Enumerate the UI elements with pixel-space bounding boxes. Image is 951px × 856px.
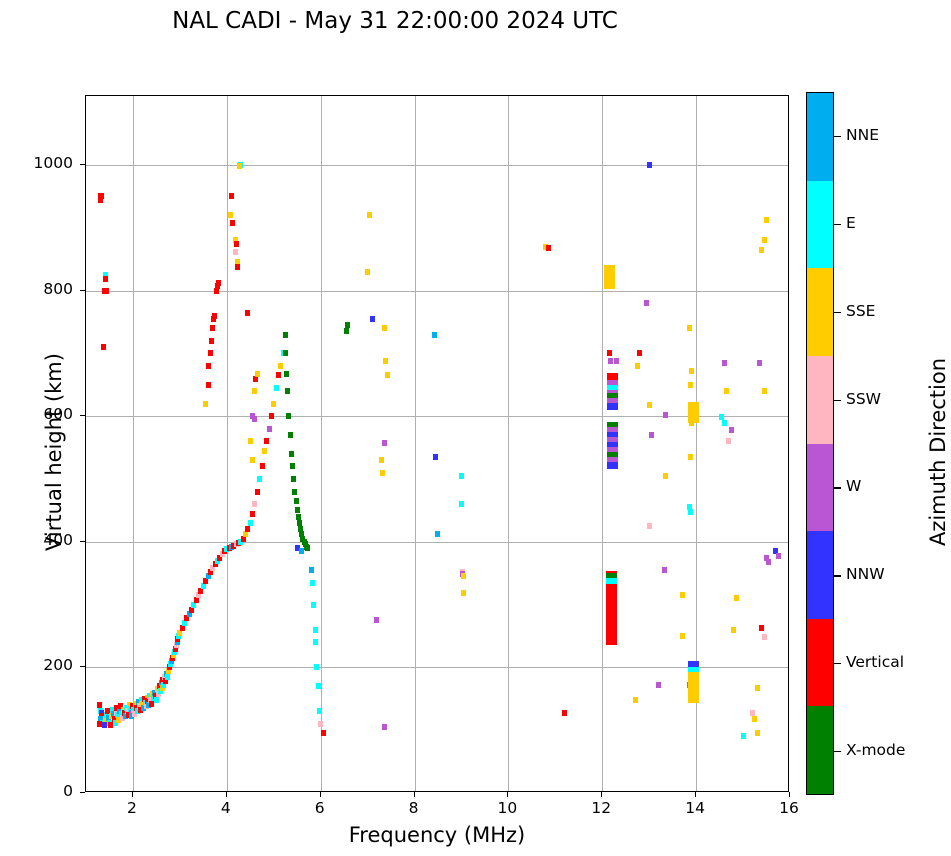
y-tick-label: 1000 [13, 154, 73, 172]
y-tick [80, 541, 85, 542]
echo-point [606, 600, 617, 606]
echo-point [299, 548, 304, 554]
echo-point [154, 697, 159, 703]
echo-point [250, 511, 255, 517]
echo-point [606, 611, 617, 617]
y-tick [80, 164, 85, 165]
echo-point [731, 627, 736, 633]
echo-point [647, 402, 652, 408]
echo-point [310, 580, 315, 586]
y-tick [80, 290, 85, 291]
echo-point [289, 451, 294, 457]
scatter-points-layer [86, 96, 788, 791]
echo-point [313, 639, 318, 645]
colorbar-tick [834, 751, 841, 752]
echo-point [606, 639, 617, 645]
echo-point [165, 674, 170, 680]
echo-point [722, 420, 727, 426]
echo-point [562, 710, 567, 716]
echo-point [432, 332, 437, 338]
echo-point [726, 438, 731, 444]
colorbar-tick [834, 487, 841, 488]
echo-point [750, 710, 755, 716]
echo-point [644, 300, 649, 306]
x-tick-label: 2 [102, 799, 162, 817]
echo-point [606, 628, 617, 634]
echo-point [98, 197, 103, 203]
echo-point [647, 523, 652, 529]
echo-point [252, 501, 257, 507]
echo-point [606, 634, 617, 640]
colorbar-label-w: W [846, 477, 861, 495]
x-tick [507, 792, 508, 797]
colorbar-tick [834, 400, 841, 401]
echo-point [257, 476, 262, 482]
echo-point [647, 162, 652, 168]
echo-point [276, 372, 281, 378]
colorbar-label-ssw: SSW [846, 390, 881, 408]
echo-point [278, 363, 283, 369]
echo-point [245, 310, 250, 316]
echo-point [297, 520, 302, 526]
figure-title: NAL CADI - May 31 22:00:00 2024 UTC [0, 8, 790, 34]
echo-point [608, 358, 613, 364]
colorbar-segment-sse[interactable] [807, 268, 833, 356]
colorbar-segment-nnw[interactable] [807, 531, 833, 619]
echo-point [283, 350, 288, 356]
echo-point [264, 438, 269, 444]
echo-point [309, 567, 314, 573]
echo-point [267, 426, 272, 432]
echo-point [607, 373, 618, 380]
colorbar-tick [834, 136, 841, 137]
echo-point [245, 526, 250, 532]
echo-point [755, 685, 760, 691]
echo-point [370, 316, 375, 322]
echo-point [97, 702, 102, 708]
echo-point [374, 617, 379, 623]
echo-point [382, 325, 387, 331]
y-tick [80, 666, 85, 667]
echo-point [680, 633, 685, 639]
echo-point [607, 403, 618, 410]
echo-point [762, 634, 767, 640]
echo-point [255, 489, 260, 495]
echo-point [237, 163, 242, 169]
echo-point [776, 553, 781, 559]
echo-point [722, 360, 727, 366]
x-tick [601, 792, 602, 797]
echo-point [762, 388, 767, 394]
echo-point [288, 432, 293, 438]
echo-point [206, 382, 211, 388]
echo-point [435, 531, 440, 537]
colorbar-label-x-mode: X-mode [846, 741, 905, 759]
echo-point [637, 350, 642, 356]
echo-point [606, 617, 617, 623]
echo-point [741, 733, 746, 739]
echo-point [209, 338, 214, 344]
colorbar-label-sse: SSE [846, 302, 875, 320]
echo-point [311, 602, 316, 608]
x-tick [320, 792, 321, 797]
echo-point [729, 427, 734, 433]
echo-point [285, 388, 290, 394]
echo-point [459, 501, 464, 507]
echo-point [680, 592, 685, 598]
echo-point [724, 388, 729, 394]
echo-point [633, 697, 638, 703]
echo-point [313, 627, 318, 633]
x-tick [789, 792, 790, 797]
echo-point [385, 372, 390, 378]
colorbar-segment-w[interactable] [807, 444, 833, 532]
echo-point [461, 590, 466, 596]
echo-point [296, 514, 301, 520]
echo-point [235, 264, 240, 270]
echo-point [248, 438, 253, 444]
echo-point [262, 448, 267, 454]
echo-point [317, 708, 322, 714]
echo-point [757, 360, 762, 366]
colorbar-tick [834, 575, 841, 576]
echo-point [250, 457, 255, 463]
colorbar[interactable] [806, 92, 834, 795]
echo-point [316, 683, 321, 689]
echo-point [216, 280, 221, 286]
echo-point [752, 716, 757, 722]
echo-point [635, 363, 640, 369]
x-tick-label: 10 [477, 799, 537, 817]
echo-point [101, 344, 106, 350]
figure-root: NAL CADI - May 31 22:00:00 2024 UTC 2468… [0, 0, 951, 856]
echo-point [382, 440, 387, 446]
echo-point [252, 416, 257, 422]
echo-point [210, 325, 215, 331]
echo-point [284, 371, 289, 377]
echo-point [212, 313, 217, 319]
colorbar-segment-x-mode[interactable] [807, 706, 833, 794]
echo-point [606, 622, 617, 628]
echo-point [461, 573, 466, 579]
echo-point [229, 193, 234, 199]
echo-point [321, 730, 326, 736]
echo-point [759, 247, 764, 253]
x-tick-label: 6 [290, 799, 350, 817]
echo-point [433, 454, 438, 460]
echo-point [380, 470, 385, 476]
colorbar-tick [834, 312, 841, 313]
echo-point [271, 401, 276, 407]
x-tick [414, 792, 415, 797]
echo-point [291, 476, 296, 482]
echo-point [345, 322, 350, 328]
echo-point [662, 567, 667, 573]
echo-point [365, 269, 370, 275]
plot-axes[interactable] [85, 95, 789, 792]
colorbar-tick [834, 224, 841, 225]
echo-point [606, 605, 617, 611]
echo-point [292, 489, 297, 495]
echo-point [104, 288, 109, 294]
echo-point [295, 507, 300, 513]
x-axis-label: Frequency (MHz) [85, 823, 789, 847]
echo-point [607, 462, 618, 469]
echo-point [286, 413, 291, 419]
echo-point [764, 217, 769, 223]
colorbar-segment-vertical[interactable] [807, 619, 833, 707]
colorbar-segment-nne[interactable] [807, 93, 833, 181]
echo-point [103, 276, 108, 282]
echo-point [382, 724, 387, 730]
echo-point [688, 509, 693, 515]
echo-point [305, 545, 310, 551]
echo-point [614, 358, 619, 364]
echo-point [606, 594, 617, 600]
echo-point [459, 473, 464, 479]
y-tick [80, 792, 85, 793]
echo-point [688, 402, 699, 410]
echo-point [755, 730, 760, 736]
echo-point [688, 454, 693, 460]
echo-point [97, 721, 102, 727]
echo-point [248, 520, 253, 526]
echo-point [208, 350, 213, 356]
echo-point [230, 220, 235, 226]
x-tick [695, 792, 696, 797]
x-tick-label: 4 [196, 799, 256, 817]
echo-point [759, 625, 764, 631]
colorbar-label-vertical: Vertical [846, 653, 904, 671]
colorbar-segment-e[interactable] [807, 181, 833, 269]
echo-point [762, 237, 767, 243]
colorbar-tick [834, 663, 841, 664]
echo-point [252, 388, 257, 394]
y-tick-label: 200 [13, 656, 73, 674]
echo-point [234, 241, 239, 247]
colorbar-label-nne: NNE [846, 126, 879, 144]
echo-point [606, 578, 617, 584]
echo-point [269, 413, 274, 419]
echo-point [663, 412, 668, 418]
colorbar-segment-ssw[interactable] [807, 356, 833, 444]
echo-point [688, 382, 693, 388]
echo-point [688, 667, 699, 672]
echo-point [314, 664, 319, 670]
echo-point [274, 385, 279, 391]
echo-point [290, 463, 295, 469]
echo-point [379, 457, 384, 463]
echo-point [607, 350, 612, 356]
echo-point [604, 265, 615, 274]
echo-point [283, 332, 288, 338]
echo-point [734, 595, 739, 601]
x-tick [132, 792, 133, 797]
echo-point [766, 559, 771, 565]
echo-point [206, 363, 211, 369]
echo-point [606, 588, 617, 594]
y-axis-label: Virtual height (km) [42, 282, 66, 622]
x-tick-label: 16 [759, 799, 819, 817]
colorbar-label-e: E [846, 214, 856, 232]
echo-point [255, 371, 260, 377]
echo-point [233, 249, 238, 255]
echo-point [689, 368, 694, 374]
colorbar-label-nnw: NNW [846, 565, 885, 583]
echo-point [546, 245, 551, 251]
echo-point [383, 358, 388, 364]
echo-point [656, 682, 661, 688]
y-tick-label: 0 [13, 782, 73, 800]
x-tick-label: 8 [384, 799, 444, 817]
echo-point [228, 212, 233, 218]
echo-point [318, 721, 323, 727]
y-tick [80, 415, 85, 416]
echo-point [687, 325, 692, 331]
echo-point [649, 432, 654, 438]
echo-point [663, 473, 668, 479]
echo-point [260, 463, 265, 469]
colorbar-title: Azimuth Direction [926, 282, 950, 622]
echo-point [294, 498, 299, 504]
echo-point [367, 212, 372, 218]
x-tick-label: 14 [665, 799, 725, 817]
echo-point [344, 328, 349, 334]
x-tick-label: 12 [571, 799, 631, 817]
x-tick [226, 792, 227, 797]
echo-point [203, 401, 208, 407]
